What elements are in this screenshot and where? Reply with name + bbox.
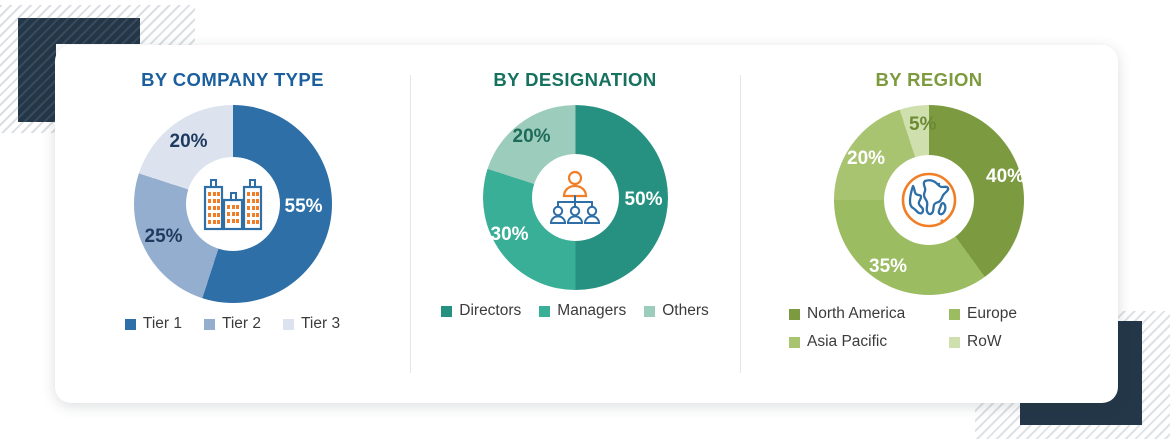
panel-company-type: BY COMPANY TYPE [55,45,410,403]
legend-designation: Directors Managers Others [410,302,740,320]
slice-label-north-america: 40% [986,167,1024,186]
legend-item-row[interactable]: RoW [949,333,1069,351]
legend-label: Tier 3 [301,315,340,333]
org-chart-people-icon [546,170,604,226]
legend-swatch-icon [644,306,655,317]
legend-swatch-icon [125,319,136,330]
legend-item-tier-3[interactable]: Tier 3 [283,315,340,333]
legend-swatch-icon [949,337,960,348]
legend-label: Others [662,302,709,320]
legend-swatch-icon [539,306,550,317]
infographic-canvas: BY COMPANY TYPE [0,0,1170,444]
slice-label-tier-1: 55% [285,197,323,216]
legend-item-managers[interactable]: Managers [539,302,626,320]
legend-label: Directors [459,302,521,320]
legend-swatch-icon [949,309,960,320]
legend-item-tier-2[interactable]: Tier 2 [204,315,261,333]
legend-label: RoW [967,333,1001,351]
legend-swatch-icon [789,309,800,320]
panel-title-company-type: BY COMPANY TYPE [55,69,410,91]
donut-chart-company-type: 55% 25% 20% [134,105,332,303]
legend-item-asia-pacific[interactable]: Asia Pacific [789,333,939,351]
legend-item-others[interactable]: Others [644,302,709,320]
slice-label-others: 20% [513,127,551,146]
legend-label: North America [807,305,905,323]
legend-swatch-icon [441,306,452,317]
slice-label-managers: 30% [491,225,529,244]
legend-swatch-icon [283,319,294,330]
donut-chart-region: 40% 35% 20% 5% [834,105,1024,295]
office-buildings-icon [202,175,264,233]
legend-swatch-icon [789,337,800,348]
donut-chart-designation: 50% 30% 20% [483,105,668,290]
slice-label-asia-pacific: 20% [847,149,885,168]
slice-label-directors: 50% [625,190,663,209]
legend-label: Europe [967,305,1017,323]
legend-item-directors[interactable]: Directors [441,302,521,320]
legend-item-europe[interactable]: Europe [949,305,1069,323]
donut-hole-company-type [186,157,280,251]
panel-title-region: BY REGION [740,69,1118,91]
legend-item-tier-1[interactable]: Tier 1 [125,315,182,333]
slice-label-tier-3: 20% [170,132,208,151]
legend-company-type: Tier 1 Tier 2 Tier 3 [55,315,410,333]
donut-hole-designation [532,154,619,241]
donut-hole-region [884,155,974,245]
legend-swatch-icon [204,319,215,330]
charts-card: BY COMPANY TYPE [55,45,1118,403]
legend-label: Asia Pacific [807,333,887,351]
panel-designation: BY DESIGNATION [410,45,740,403]
panel-title-designation: BY DESIGNATION [410,69,740,91]
panel-region: BY REGION [740,45,1118,403]
legend-region: North America Europe Asia Pacific RoW [740,305,1118,351]
legend-label: Managers [557,302,626,320]
slice-label-tier-2: 25% [145,227,183,246]
slice-label-row: 5% [909,115,936,134]
legend-label: Tier 2 [222,315,261,333]
slice-label-europe: 35% [869,257,907,276]
legend-label: Tier 1 [143,315,182,333]
globe-icon [898,169,960,231]
legend-item-north-america[interactable]: North America [789,305,939,323]
